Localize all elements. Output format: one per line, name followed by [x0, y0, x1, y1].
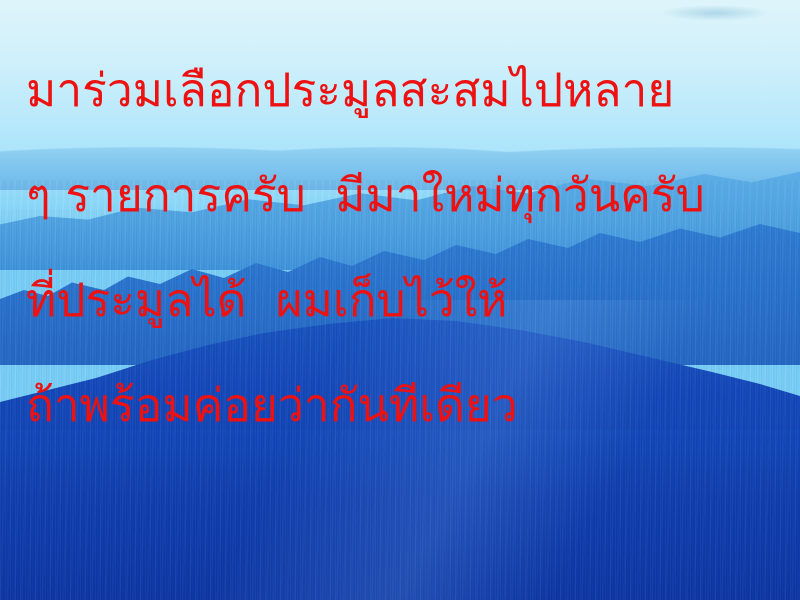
caption-overlay: มาร่วมเลือกประมูลสะสมไปหลาย ๆ รายการครับ…: [0, 0, 800, 600]
caption-line-1: มาร่วมเลือกประมูลสะสมไปหลาย: [26, 38, 800, 143]
caption-line-2: ๆ รายการครับ มีมาใหม่ทุกวันครับ: [26, 143, 800, 248]
caption-line-3: ที่ประมูลได้ ผมเก็บไว้ให้: [26, 248, 800, 353]
caption-line-4: ถ้าพร้อมค่อยว่ากันทีเดียว: [26, 353, 800, 458]
image-canvas: มาร่วมเลือกประมูลสะสมไปหลาย ๆ รายการครับ…: [0, 0, 800, 600]
